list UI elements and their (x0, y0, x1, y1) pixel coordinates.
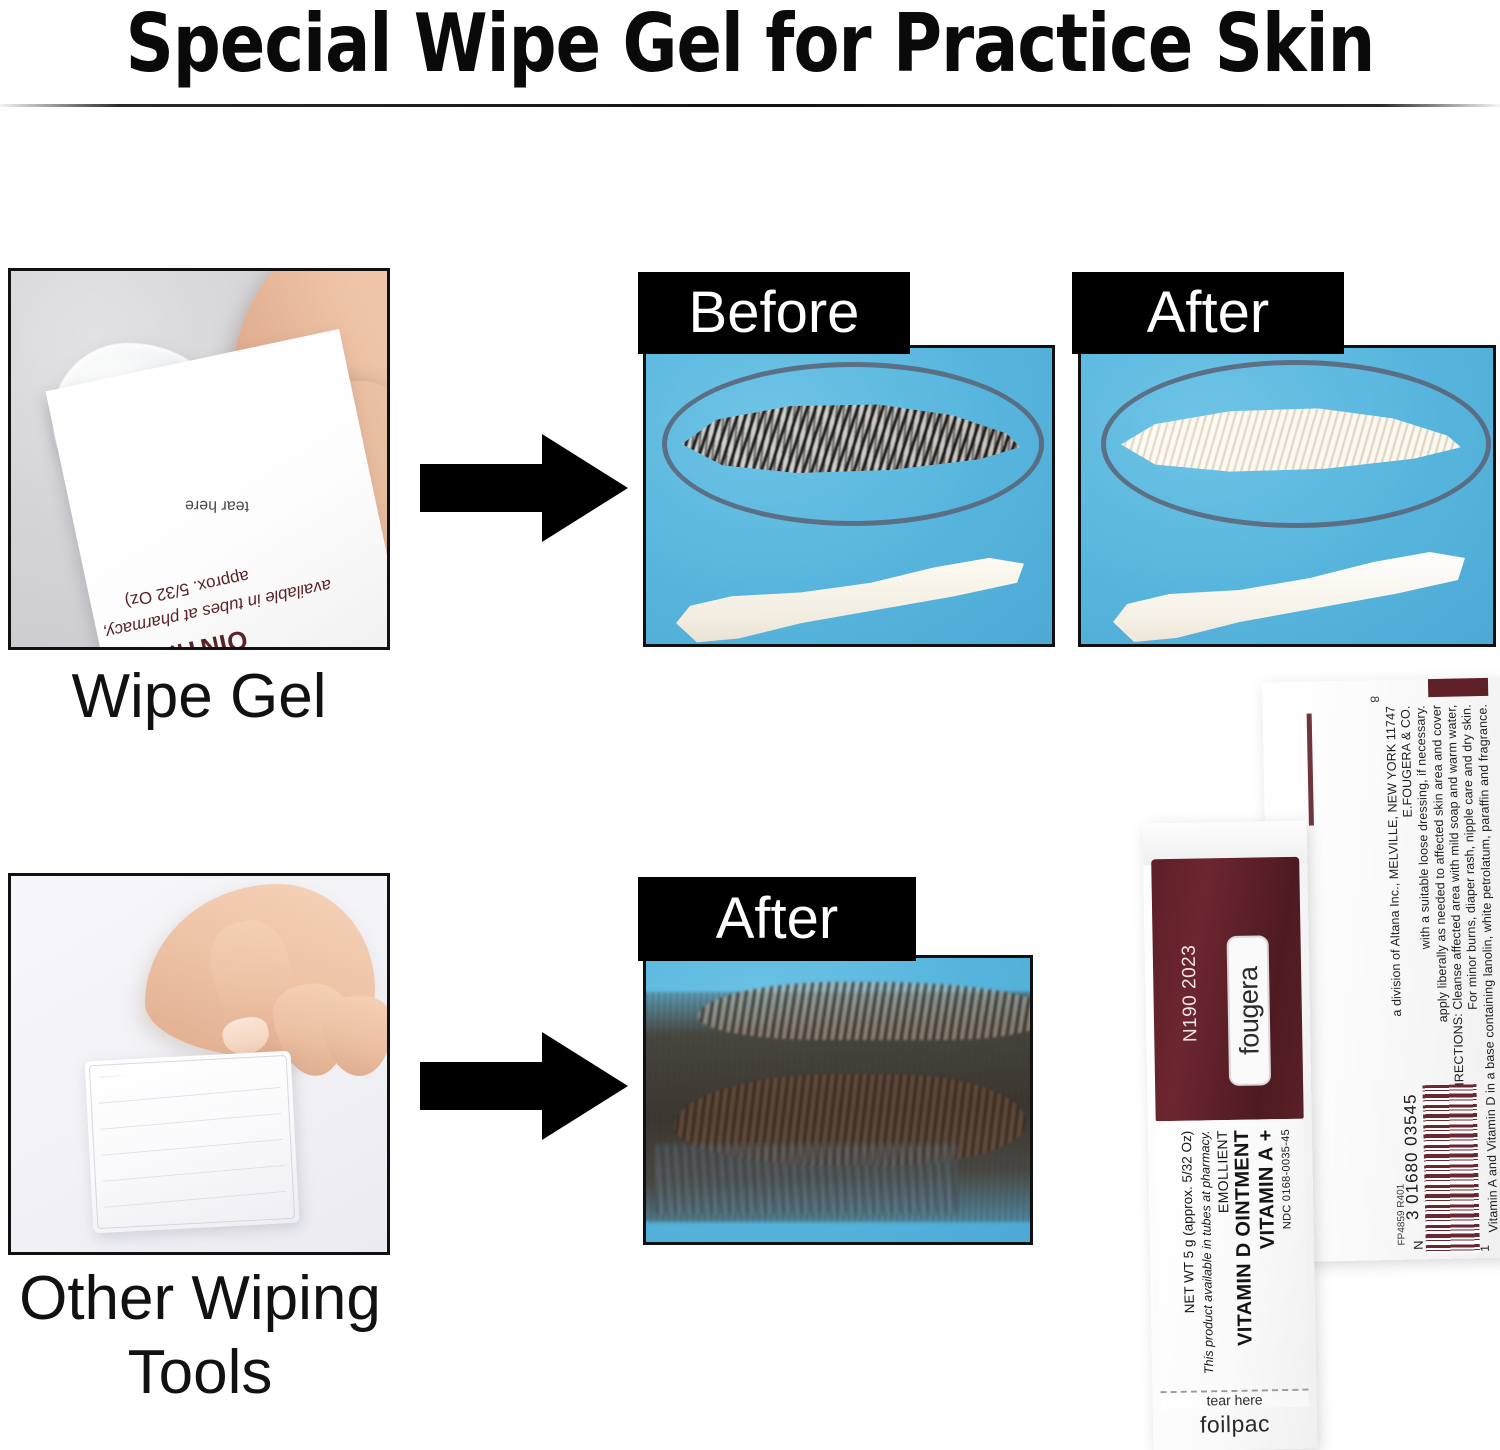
cotton-pad (85, 1051, 300, 1234)
lot-code: N190 2023 (1179, 945, 1202, 1043)
sachet-tear-here-text: tear here (185, 496, 249, 515)
barcode: 3 01680 03545 1 (1422, 1084, 1480, 1253)
product-type: EMOLLIENT (1214, 1130, 1231, 1213)
barcode-check-digit: 1 (1478, 1245, 1492, 1252)
label-after-gel: After (1072, 272, 1344, 354)
packet-white-panel: NDC 0168-0035-45 VITAMIN A + VITAMIN D O… (1156, 1119, 1310, 1450)
photo-before-practice-skin (643, 345, 1055, 647)
net-weight: NET WT 5 g (approx. 5/32 Oz) (1179, 1131, 1197, 1314)
brand-name: fougera (1233, 966, 1266, 1055)
header-divider (0, 104, 1500, 107)
photo-wipe-gel-inner: OINTMENT available in tubes at pharmacy,… (11, 271, 387, 647)
photo-after-gel-inner (1081, 348, 1493, 644)
label-after-other: After (638, 877, 916, 961)
packet-maroon-seam (1307, 714, 1314, 826)
arrow-right-icon (420, 432, 630, 544)
packet-maroon-tip (1428, 678, 1488, 697)
photo-after-other-tools (643, 955, 1033, 1245)
packet-maroon-panel: fougera N190 2023 (1151, 857, 1304, 1122)
photo-before-inner (646, 348, 1052, 644)
photo-other-wiping-tools (8, 873, 390, 1255)
photo-after-smear-inner (646, 958, 1030, 1242)
barcode-digits: 3 01680 03545 (1401, 1093, 1424, 1220)
infographic-page: Special Wipe Gel for Practice Skin OINTM… (0, 0, 1500, 1450)
arrow-right-icon (420, 1030, 630, 1142)
packet-back-line-6: E.FOUGERA & CO. (1399, 705, 1414, 817)
packet-page-number: 8 (1368, 696, 1382, 703)
page-title: Special Wipe Gel for Practice Skin (53, 0, 1448, 92)
photo-after-wipe-gel (1078, 345, 1496, 647)
ointment-packet-group: 8 Vitamin A and Vitamin D in a base cont… (1130, 680, 1500, 1450)
ndc-number: NDC 0168-0035-45 (1280, 1129, 1294, 1229)
photo-cotton-inner (11, 876, 387, 1252)
smear-lower-streaks (656, 1144, 956, 1214)
packet-back-line-5: with a suitable loose dressing, if neces… (1414, 705, 1432, 949)
smear-upper-streaks (698, 982, 1030, 1040)
foilpac-label: foilpac (1161, 1410, 1309, 1440)
caption-other-wiping-tools: Other Wiping Tools (0, 1262, 400, 1410)
availability-note: This product available in tubes at pharm… (1198, 1130, 1216, 1374)
label-before: Before (638, 272, 910, 354)
tear-here-label: tear here (1160, 1391, 1308, 1410)
barcode-letter: N (1411, 1240, 1426, 1250)
product-name-line1: VITAMIN A + (1255, 1129, 1280, 1249)
ointment-packet-front: fougera N190 2023 NDC 0168-0035-45 VITAM… (1143, 821, 1318, 1450)
barcode-bars (1422, 1084, 1480, 1253)
photo-wipe-gel-sachet: OINTMENT available in tubes at pharmacy,… (8, 268, 390, 650)
caption-wipe-gel: Wipe Gel (8, 660, 390, 734)
fougera-logo: fougera (1227, 935, 1272, 1086)
product-name-line2: VITAMIN D OINTMENT (1231, 1130, 1258, 1346)
packet-back-line-1: Vitamin A and Vitamin D in a base contai… (1476, 704, 1500, 1233)
